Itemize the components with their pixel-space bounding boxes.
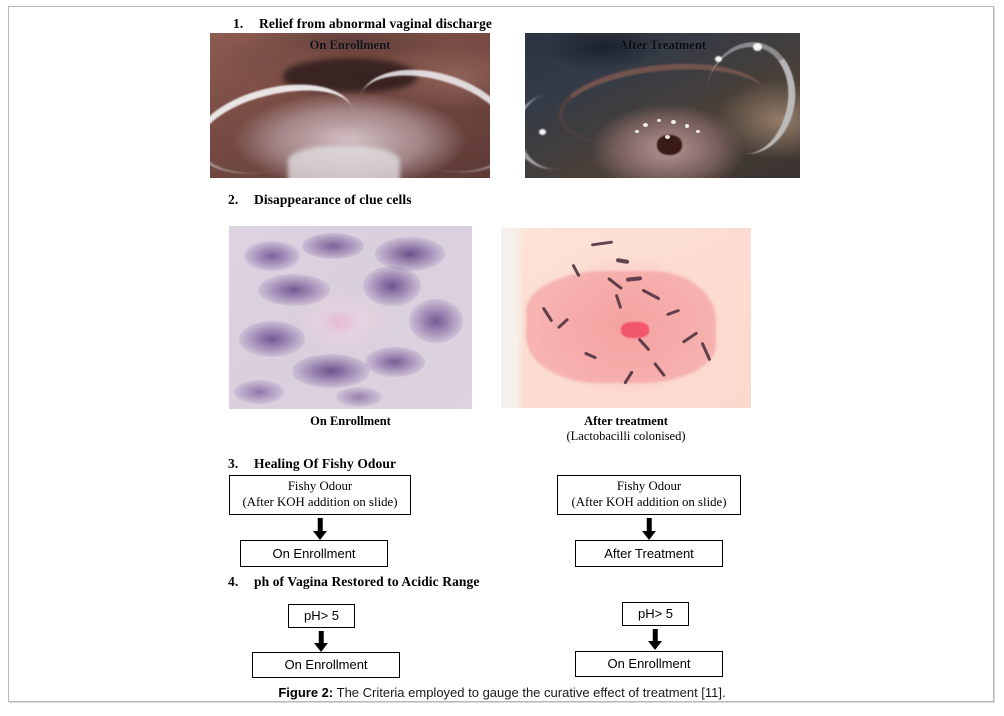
flowbox-fishy-odour-left-line2: (After KOH addition on slide) (243, 495, 398, 511)
arrow-shaft (318, 518, 323, 531)
bacterial-cluster (363, 266, 421, 306)
photo-cervix-after-treatment: After Treatment (525, 33, 800, 178)
criterion-1-number: 1. (233, 16, 259, 32)
photo-speck (696, 130, 700, 133)
flowbox-on-enrollment-ph-right: On Enrollment (575, 651, 723, 677)
flowbox-fishy-odour-right-line2: (After KOH addition on slide) (572, 495, 727, 511)
figure-caption-lead: Figure 2: (278, 685, 333, 700)
flowbox-fishy-odour-left-line1: Fishy Odour (288, 479, 352, 495)
criterion-2-title: Disappearance of clue cells (254, 192, 412, 207)
bacterial-cluster (365, 347, 425, 377)
photo-speck (657, 119, 661, 122)
bacterial-cluster (258, 274, 330, 306)
arrow-shaft (319, 631, 324, 643)
criterion-3-title: Healing Of Fishy Odour (254, 456, 396, 471)
criterion-4-number: 4. (228, 574, 254, 590)
bacterial-cluster (336, 387, 382, 407)
flowbox-on-enrollment-ph-left: On Enrollment (252, 652, 400, 678)
flowbox-ph-left: pH> 5 (288, 604, 355, 628)
photo-speck (685, 124, 689, 128)
photo-overlay-label-after-treatment: After Treatment (525, 38, 800, 53)
arrow-down-left-odour (312, 518, 328, 540)
bacterial-cluster (239, 321, 305, 357)
flowbox-fishy-odour-right-line1: Fishy Odour (617, 479, 681, 495)
bacterial-cluster (292, 354, 370, 388)
micrograph-clue-cells (229, 226, 472, 409)
bacterial-cluster (234, 380, 284, 404)
arrow-head (313, 531, 327, 540)
arrow-shaft (647, 518, 652, 531)
micrograph-lactobacilli (501, 228, 751, 408)
flowbox-on-enrollment-ph-right-label: On Enrollment (607, 656, 690, 672)
flowbox-on-enrollment-odour: On Enrollment (240, 540, 388, 567)
photo-speck (671, 120, 676, 124)
cell-nucleus (621, 322, 649, 338)
flowbox-ph-right: pH> 5 (622, 602, 689, 626)
arrow-down-right-ph (647, 629, 663, 651)
criterion-4-title: ph of Vagina Restored to Acidic Range (254, 574, 479, 589)
criterion-4-heading: 4.ph of Vagina Restored to Acidic Range (228, 574, 479, 590)
arrow-head (642, 531, 656, 540)
flowbox-after-treatment-odour-label: After Treatment (604, 546, 694, 562)
arrow-down-right-odour (641, 518, 657, 540)
arrow-down-left-ph (313, 631, 329, 653)
criterion-2-number: 2. (228, 192, 254, 208)
metal-highlight (539, 129, 546, 135)
photo-cervix-on-enrollment: On Enrollment (210, 33, 490, 178)
flowbox-on-enrollment-odour-label: On Enrollment (272, 546, 355, 562)
arrow-head (314, 643, 328, 652)
criterion-2-heading: 2.Disappearance of clue cells (228, 192, 412, 208)
lactobacillus-rod (616, 257, 629, 263)
photo-overlay-label-on-enrollment: On Enrollment (210, 38, 490, 53)
discharge-region (288, 146, 400, 178)
flowbox-ph-right-label: pH> 5 (638, 606, 673, 622)
flowbox-fishy-odour-left: Fishy Odour (After KOH addition on slide… (229, 475, 411, 515)
caption-lactobacilli-after-treatment: After treatment (501, 414, 751, 429)
caption-lactobacilli-subtitle: (Lactobacilli colonised) (501, 429, 751, 444)
clue-cell-body (316, 307, 360, 337)
criterion-1-heading: 1.Relief from abnormal vaginal discharge (233, 16, 492, 32)
slide-edge (501, 228, 524, 408)
arrow-shaft (653, 629, 658, 641)
bacterial-cluster (244, 241, 300, 271)
lactobacillus-rod (591, 241, 613, 247)
flowbox-ph-left-label: pH> 5 (304, 608, 339, 624)
bacterial-cluster (302, 233, 364, 259)
speculum-arm-right (698, 36, 800, 160)
photo-speck (665, 135, 670, 139)
criterion-3-heading: 3.Healing Of Fishy Odour (228, 456, 396, 472)
bacterial-cluster (409, 299, 463, 343)
arrow-head (648, 641, 662, 650)
caption-clue-cells-on-enrollment: On Enrollment (229, 414, 472, 429)
criterion-1-title: Relief from abnormal vaginal discharge (259, 16, 492, 31)
figure-caption: Figure 2: The Criteria employed to gauge… (0, 685, 1004, 700)
flowbox-after-treatment-odour: After Treatment (575, 540, 723, 567)
criterion-3-number: 3. (228, 456, 254, 472)
flowbox-fishy-odour-right: Fishy Odour (After KOH addition on slide… (557, 475, 741, 515)
figure-caption-text: The Criteria employed to gauge the curat… (333, 685, 725, 700)
metal-highlight (715, 56, 722, 62)
flowbox-on-enrollment-ph-left-label: On Enrollment (284, 657, 367, 673)
